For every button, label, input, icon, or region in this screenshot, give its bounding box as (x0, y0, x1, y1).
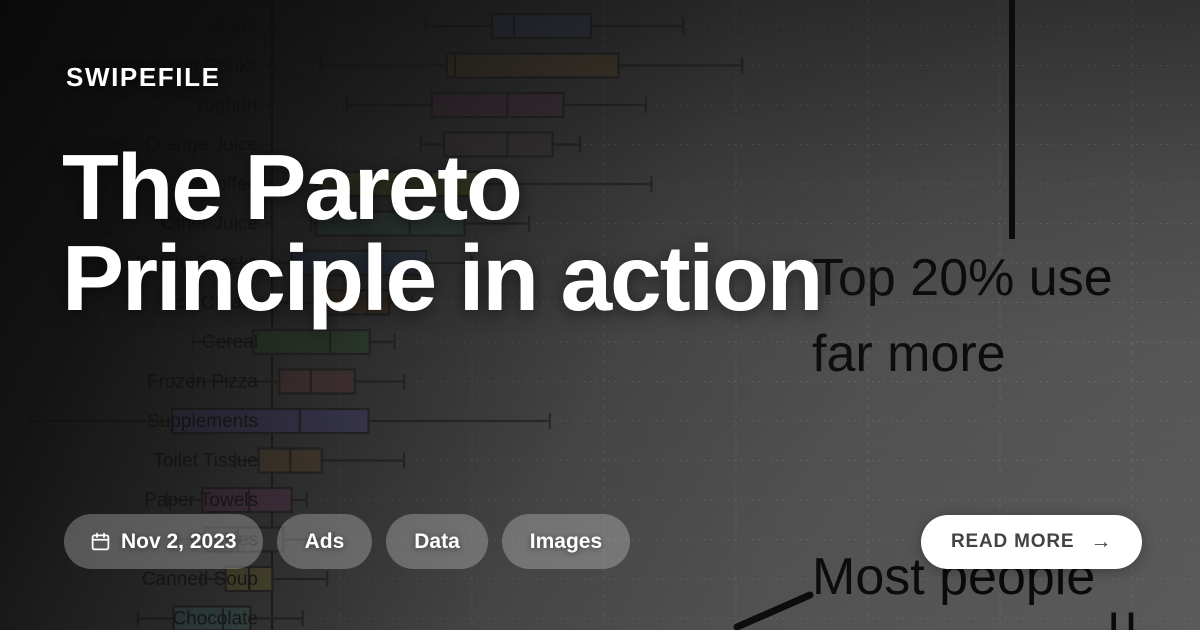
tag-label: Ads (305, 530, 345, 554)
tag-pill-images[interactable]: Images (502, 514, 630, 569)
tag-label: Data (414, 530, 460, 554)
social-card: Top 20% usefar moreMost peopleu WaterCar… (0, 0, 1200, 630)
date-pill[interactable]: Nov 2, 2023 (64, 514, 263, 569)
arrow-right-icon: → (1090, 530, 1112, 554)
calendar-icon (90, 531, 111, 552)
read-more-label: READ MORE (951, 531, 1074, 553)
tag-pill-ads[interactable]: Ads (277, 514, 373, 569)
page-title: The Pareto Principle in action (62, 142, 922, 324)
headline-line-1: The Pareto (62, 142, 922, 233)
tag-label: Images (530, 530, 602, 554)
overlay-content: SWIPEFILE The Pareto Principle in action… (0, 0, 1200, 630)
headline-line-2: Principle in action (62, 233, 922, 324)
tag-pill-data[interactable]: Data (386, 514, 488, 569)
meta-pill-row: Nov 2, 2023 Ads Data Images (64, 514, 630, 569)
date-label: Nov 2, 2023 (121, 530, 237, 554)
read-more-button[interactable]: READ MORE → (921, 515, 1142, 569)
brand-wordmark: SWIPEFILE (66, 62, 221, 93)
